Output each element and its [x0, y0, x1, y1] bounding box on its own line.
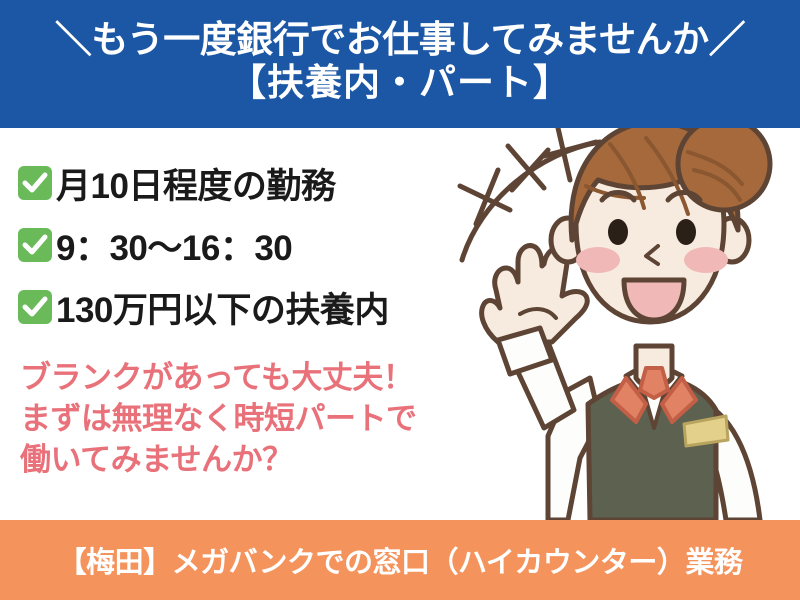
benefits-checklist: 月10日程度の勤務 9：30〜16：30 130万円以下の扶養内 [18, 152, 488, 338]
header-banner: ＼もう一度銀行でお仕事してみませんか／ 【扶養内・パート】 [0, 0, 800, 128]
message-line-1: ブランクがあっても大丈夫！ [20, 358, 490, 399]
list-item-label: 月10日程度の勤務 [56, 158, 335, 209]
check-square-icon [18, 228, 52, 262]
check-square-icon [18, 290, 52, 324]
waving-bank-clerk-illustration [440, 128, 800, 520]
list-item: 月10日程度の勤務 [18, 152, 488, 214]
header-title-line2: 【扶養内・パート】 [229, 60, 571, 106]
list-item-label: 9：30〜16：30 [56, 220, 292, 271]
footer-banner: 【梅田】メガバンクでの窓口（ハイカウンター）業務 [0, 520, 800, 600]
list-item-label: 130万円以下の扶養内 [56, 282, 389, 333]
message-line-3: 働いてみませんか？ [20, 440, 490, 481]
header-title-line1: ＼もう一度銀行でお仕事してみませんか／ [55, 21, 745, 60]
check-square-icon [18, 166, 52, 200]
job-title-text: 【梅田】メガバンクでの窓口（ハイカウンター）業務 [58, 539, 743, 581]
list-item: 9：30〜16：30 [18, 214, 488, 276]
list-item: 130万円以下の扶養内 [18, 276, 488, 338]
job-advertisement-banner: ＼もう一度銀行でお仕事してみませんか／ 【扶養内・パート】 [0, 0, 800, 600]
encouragement-message: ブランクがあっても大丈夫！ まずは無理なく時短パートで 働いてみませんか？ [20, 358, 490, 481]
message-line-2: まずは無理なく時短パートで [20, 399, 490, 440]
